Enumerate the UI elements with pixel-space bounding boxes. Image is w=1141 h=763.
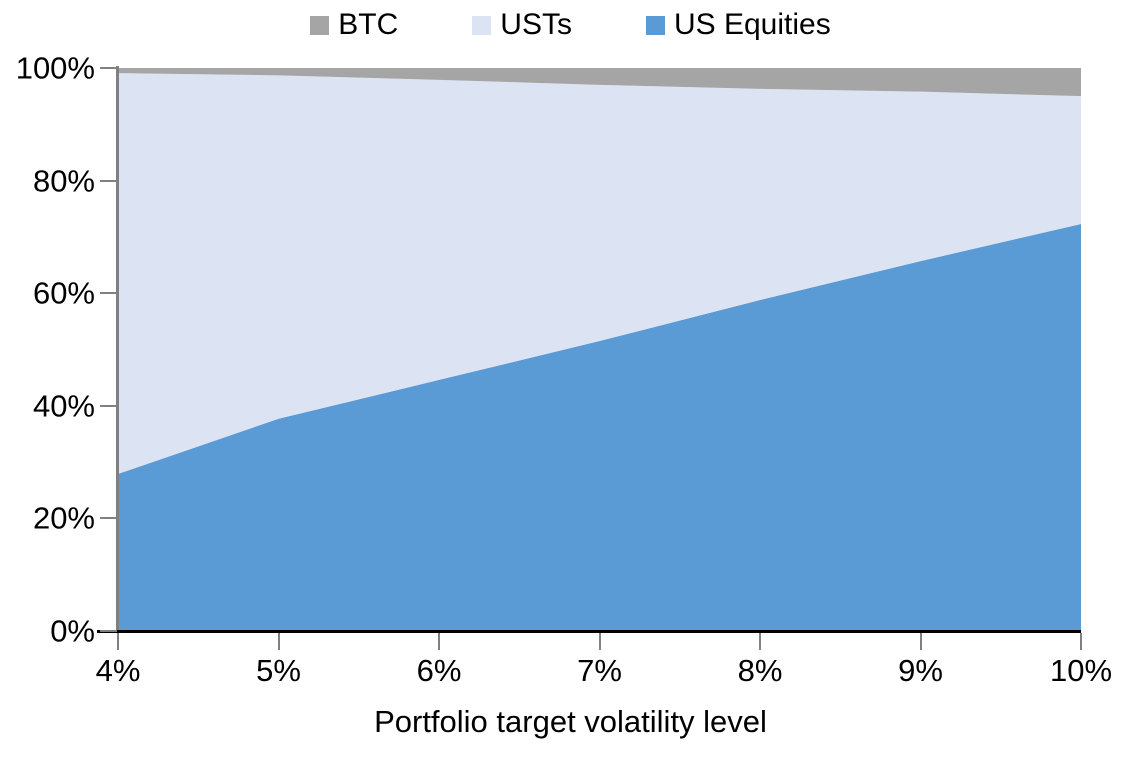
x-axis-label: 6% [417, 655, 462, 686]
area-series-group [118, 68, 1081, 631]
x-axis-label: 9% [898, 655, 943, 686]
y-axis-label: 20% [33, 503, 95, 534]
y-axis-tick [100, 67, 117, 69]
x-axis-label: 7% [577, 655, 622, 686]
legend-swatch-usts [472, 16, 491, 35]
x-axis-label: 5% [256, 655, 301, 686]
x-axis-tick [1080, 633, 1082, 650]
y-axis-tick [100, 292, 117, 294]
x-axis-label: 8% [738, 655, 783, 686]
legend-label-usts: USTs [500, 10, 572, 40]
y-axis-label: 100% [16, 53, 95, 84]
y-axis-label: 0% [50, 616, 95, 647]
legend-swatch-btc [310, 16, 329, 35]
legend-label-btc: BTC [338, 10, 398, 40]
y-axis-label: 60% [33, 278, 95, 309]
y-axis-label: 40% [33, 390, 95, 421]
x-axis-tick [117, 633, 119, 650]
legend-item-us-equities[interactable]: US Equities [646, 10, 831, 40]
legend-item-btc[interactable]: BTC [310, 10, 398, 40]
plot-area [118, 68, 1081, 631]
y-axis-line [116, 66, 119, 633]
y-axis-tick [100, 630, 117, 632]
chart-legend: BTC USTs US Equities [0, 8, 1141, 42]
stacked-area-chart: BTC USTs US Equities 0%20%40%60%80%100% … [0, 0, 1141, 763]
x-axis-tick [278, 633, 280, 650]
x-axis-line [97, 630, 1081, 633]
y-axis-tick [100, 405, 117, 407]
x-axis-tick [759, 633, 761, 650]
x-axis-tick [920, 633, 922, 650]
x-axis-title: Portfolio target volatility level [0, 706, 1141, 737]
x-axis-tick [599, 633, 601, 650]
x-axis-tick [438, 633, 440, 650]
x-axis-label: 10% [1050, 655, 1112, 686]
y-axis-label: 80% [33, 165, 95, 196]
legend-item-usts[interactable]: USTs [472, 10, 572, 40]
legend-label-us-equities: US Equities [674, 10, 831, 40]
y-axis-tick [100, 517, 117, 519]
legend-swatch-us-equities [646, 16, 665, 35]
x-axis-label: 4% [96, 655, 141, 686]
y-axis-tick [100, 180, 117, 182]
